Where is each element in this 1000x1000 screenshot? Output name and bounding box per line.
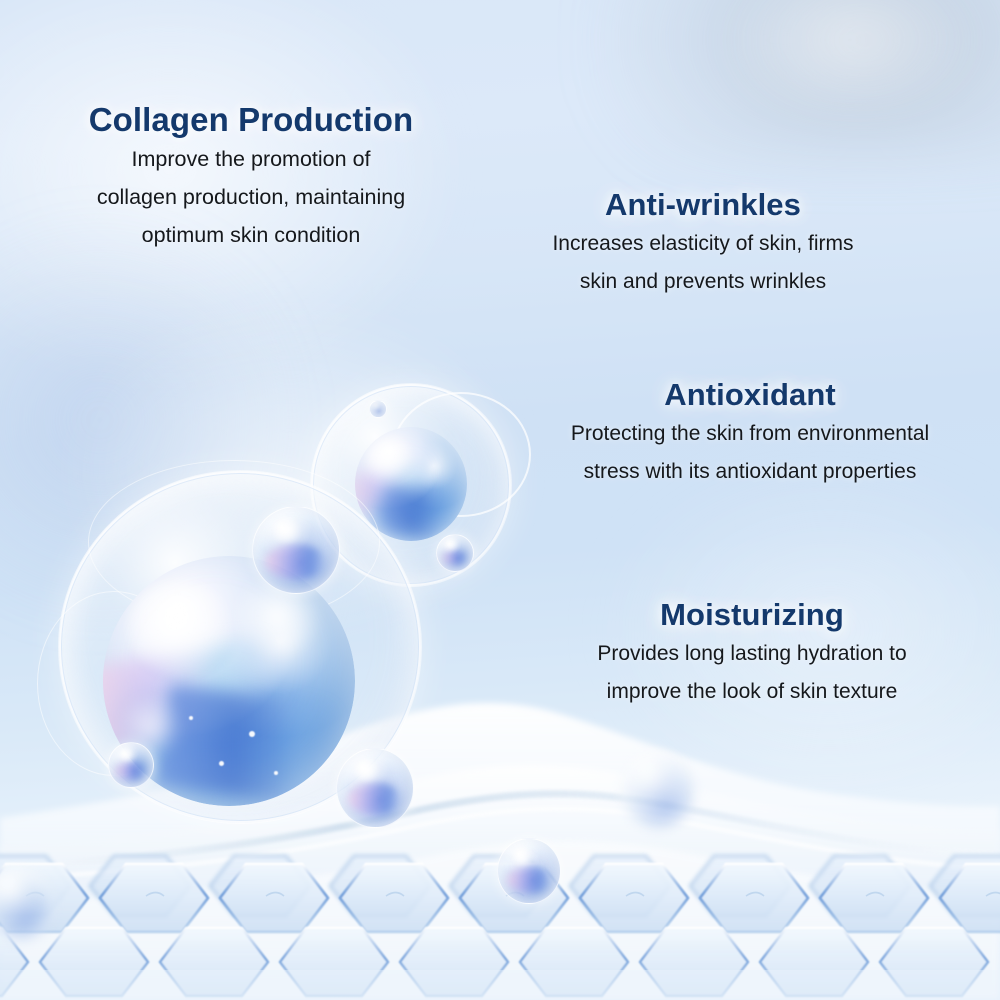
background-highlight-top-right — [720, 0, 980, 120]
secondary-core-highlight — [366, 438, 413, 481]
satellite-3-highlight — [270, 517, 303, 543]
satellite-bubble-4 — [108, 742, 154, 788]
core-sparkle — [189, 716, 193, 720]
satellite-5-highlight — [352, 758, 381, 781]
benefit-heading: Moisturizing — [522, 595, 982, 635]
benefit-block-anti-wrinkles: Anti-wrinkles Increases elasticity of sk… — [468, 185, 938, 301]
satellite-bubble-5 — [336, 748, 414, 828]
benefit-body-line: Improve the promotion of — [26, 140, 476, 178]
benefit-body-line: Increases elasticity of skin, firms — [468, 225, 938, 263]
benefit-body-line: optimum skin condition — [26, 216, 476, 254]
benefit-heading: Collagen Production — [26, 100, 476, 140]
benefit-heading: Anti-wrinkles — [468, 185, 938, 225]
satellite-2-iridescence — [442, 551, 468, 565]
core-sparkle — [219, 761, 224, 766]
benefit-body-line: skin and prevents wrinkles — [468, 263, 938, 301]
satellite-2-highlight — [444, 539, 458, 550]
benefit-body-line: Provides long lasting hydration to — [522, 635, 982, 673]
benefit-body-line: collagen production, maintaining — [26, 178, 476, 216]
benefit-block-antioxidant: Antioxidant Protecting the skin from env… — [520, 375, 980, 491]
satellite-bubble-3 — [252, 506, 340, 594]
satellite-3-iridescence — [265, 545, 327, 579]
satellite-4-iridescence — [115, 762, 147, 780]
benefit-body-line: stress with its antioxidant properties — [520, 453, 980, 491]
satellite-bubble-6-blurred — [620, 752, 696, 830]
satellite-bubble-7 — [497, 838, 561, 904]
benefit-block-moisturizing: Moisturizing Provides long lasting hydra… — [522, 595, 982, 711]
main-core-highlight-1 — [128, 581, 234, 676]
satellite-bubble-tiny-1 — [369, 400, 387, 418]
benefit-body-line: improve the look of skin texture — [522, 673, 982, 711]
satellite-5-iridescence — [348, 783, 403, 814]
secondary-core-iridescence-b — [379, 486, 463, 541]
benefit-heading: Antioxidant — [520, 375, 980, 415]
satellite-bubble-2 — [436, 534, 474, 572]
benefit-block-collagen-production: Collagen Production Improve the promotio… — [26, 100, 476, 254]
infographic-canvas: Collagen Production Improve the promotio… — [0, 0, 1000, 1000]
benefit-body-line: Protecting the skin from environmental — [520, 415, 980, 453]
satellite-7-highlight — [510, 847, 534, 866]
satellite-4-highlight — [118, 748, 135, 761]
satellite-7-iridescence — [507, 867, 552, 893]
